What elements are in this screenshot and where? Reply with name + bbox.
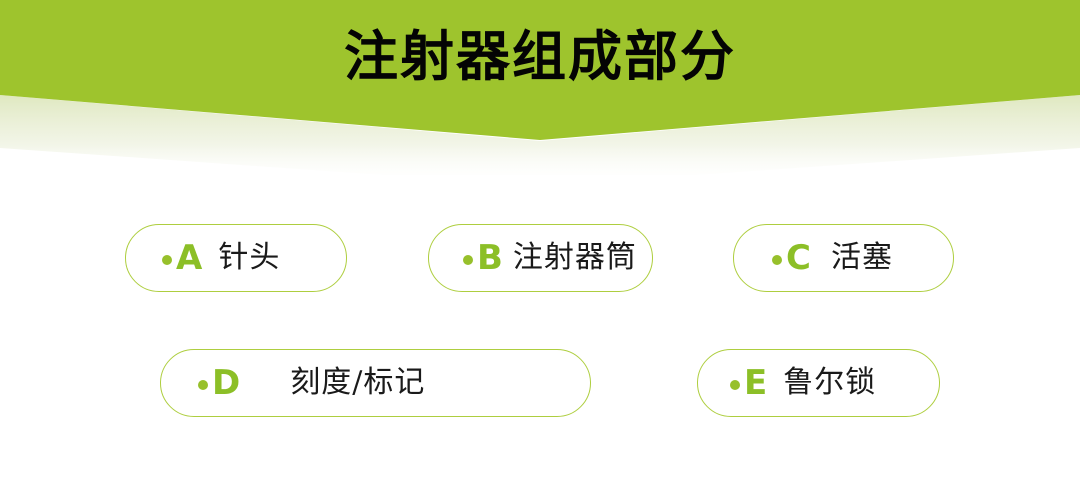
component-pill-c[interactable]: C 活塞 bbox=[733, 224, 954, 292]
pill-letter-a: A bbox=[176, 241, 202, 275]
bullet-dot-icon bbox=[198, 380, 208, 390]
bullet-dot-icon bbox=[162, 255, 172, 265]
pill-letter-c: C bbox=[786, 241, 811, 275]
component-pill-b[interactable]: B 注射器筒 bbox=[428, 224, 653, 292]
bullet-dot-icon bbox=[730, 380, 740, 390]
pill-label-a: 针头 bbox=[218, 241, 280, 275]
page-title: 注射器组成部分 bbox=[0, 22, 1080, 90]
pill-label-b: 注射器筒 bbox=[513, 241, 637, 275]
pill-label-e: 鲁尔锁 bbox=[783, 366, 876, 400]
component-pill-e[interactable]: E 鲁尔锁 bbox=[697, 349, 940, 417]
bullet-dot-icon bbox=[463, 255, 473, 265]
pill-label-d: 刻度/标记 bbox=[290, 366, 425, 400]
component-pill-d[interactable]: D 刻度/标记 bbox=[160, 349, 591, 417]
pill-letter-b: B bbox=[477, 241, 503, 275]
component-pill-a[interactable]: A 针头 bbox=[125, 224, 347, 292]
pill-letter-e: E bbox=[744, 366, 767, 400]
bullet-dot-icon bbox=[772, 255, 782, 265]
pill-letter-d: D bbox=[212, 366, 240, 400]
pill-label-c: 活塞 bbox=[831, 241, 893, 275]
